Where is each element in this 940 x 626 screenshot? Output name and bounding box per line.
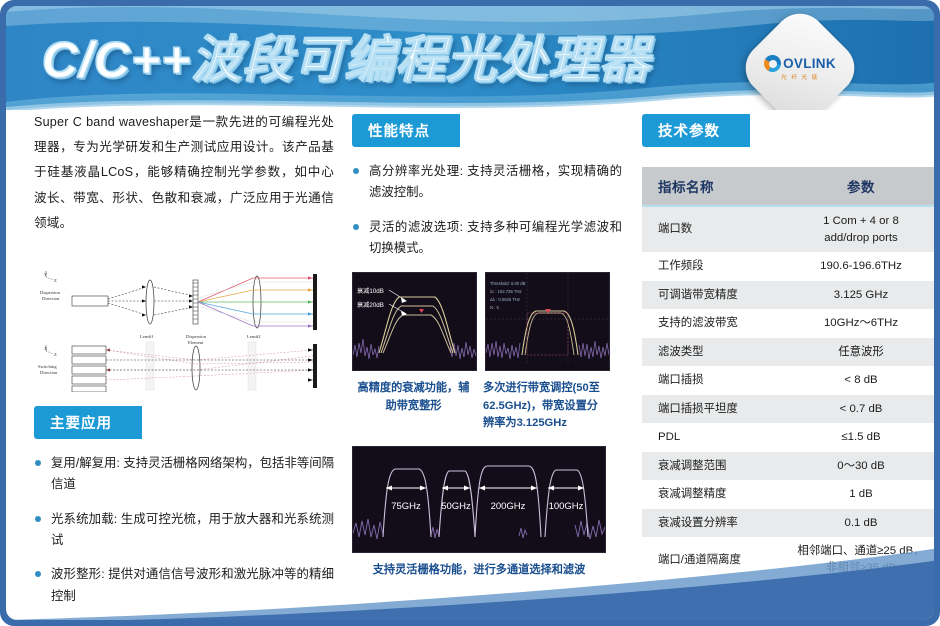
spec-name-cell: 衰减设置分辨率 [642,509,788,538]
svg-text:Dispersion: Dispersion [40,290,61,295]
spec-name-cell: 工作频段 [642,252,788,281]
table-header-row: 指标名称 参数 [642,167,934,206]
optical-path-diagram: Y Z Dispersion Direction Lens#1 [34,252,334,392]
logo-wordmark: OVLINK [783,56,836,71]
table-row: 衰减调整范围0～30 dB [642,452,934,481]
svg-text:Z: Z [54,352,57,357]
spec-value-cell: 0.1 dB [788,509,934,538]
list-item: 灵活的滤波选项: 支持多种可编程光学滤波和切换模式。 [352,217,622,260]
features-list: 高分辨率光处理: 支持灵活栅格，实现精确的滤波控制。 灵活的滤波选项: 支持多种… [352,161,622,259]
applications-section-tab: 主要应用 [34,406,142,439]
spec-value-cell: < 0.7 dB [788,395,934,424]
bandwidth-tuning-spectrum-screenshot: Threshold: 6.00 dB λc : 192.736 THz Δλ :… [485,272,610,371]
table-row: 衰减调整精度1 dB [642,480,934,509]
spec-name-cell: 衰减调整精度 [642,480,788,509]
shot2-overlay-lambda-c: λc : 192.736 THz [490,289,522,294]
table-row: 端口数1 Com + 4 or 8add/drop ports [642,206,934,252]
spec-name-cell: 可调谐带宽精度 [642,281,788,310]
svg-text:Element: Element [188,340,204,345]
shot2-overlay-n: N : 5 [490,305,500,310]
spec-name-cell: 支持的滤波带宽 [642,309,788,338]
svg-text:Direction: Direction [40,370,58,375]
shot2-caption: 多次进行带宽调控(50至62.5GHz)，带宽设置分辨率为3.125GHz [483,380,606,432]
middle-column: 性能特点 高分辨率光处理: 支持灵活栅格，实现精确的滤波控制。 灵活的滤波选项:… [352,110,622,580]
spec-name-cell: 端口数 [642,206,788,252]
spec-value-cell: 1 dB [788,480,934,509]
table-row: 支持的滤波带宽10GHz～6THz [642,309,934,338]
table-row: 衰减设置分辨率0.1 dB [642,509,934,538]
channel-label-0: 75GHz [391,501,421,512]
svg-text:Z: Z [54,278,57,283]
page-title: C/C++波段可编程光处理器 [42,20,651,92]
table-row: 端口插损平坦度< 0.7 dB [642,395,934,424]
svg-text:Dispersion: Dispersion [186,334,207,339]
svg-text:Switching: Switching [38,364,57,369]
svg-text:Lens#1: Lens#1 [140,334,154,339]
spec-value-cell: < 8 dB [788,366,934,395]
footer-wave-graphic [6,540,934,620]
shot1-label-20db: 衰减20dB [357,301,384,309]
spec-name-cell: PDL [642,423,788,452]
table-row: 端口插损< 8 dB [642,366,934,395]
technical-specifications-table: 指标名称 参数 端口数1 Com + 4 or 8add/drop ports工… [642,167,934,582]
shot2-overlay-threshold: Threshold: 6.00 dB [490,281,526,286]
shot1-caption: 高精度的衰减功能，辅助带宽整形 [352,380,475,432]
channel-label-2: 200GHz [491,501,526,512]
channel-label-1: 50GHz [441,501,471,512]
list-item: 高分辨率光处理: 支持灵活栅格，实现精确的滤波控制。 [352,161,622,204]
page-border: C/C++波段可编程光处理器 OVLINK 光 纤 光 链 Super C ba… [0,0,940,626]
spec-name-cell: 滤波类型 [642,338,788,367]
logo-subtext: 光 纤 光 链 [781,73,819,81]
column-header-value: 参数 [788,167,934,206]
attenuation-spectrum-screenshot: 衰减10dB 衰减20dB [352,272,477,371]
table-row: 可调谐带宽精度3.125 GHz [642,281,934,310]
spec-value-cell: 190.6-196.6THz [788,252,934,281]
table-row: 工作频段190.6-196.6THz [642,252,934,281]
right-column: 技术参数 指标名称 参数 端口数1 Com + 4 or 8add/drop p… [642,110,934,582]
column-header-name: 指标名称 [642,167,788,206]
svg-text:Direction: Direction [42,296,60,301]
specs-section-tab: 技术参数 [642,114,750,147]
table-body: 端口数1 Com + 4 or 8add/drop ports工作频段190.6… [642,206,934,582]
features-section-tab: 性能特点 [352,114,460,147]
spec-value-cell: 1 Com + 4 or 8add/drop ports [788,206,934,252]
spec-value-cell: 0～30 dB [788,452,934,481]
spec-value-cell: ≤1.5 dB [788,423,934,452]
brochure-page: C/C++波段可编程光处理器 OVLINK 光 纤 光 链 Super C ba… [0,0,940,626]
shot1-label-10db: 衰减10dB [357,287,384,295]
table-row: PDL≤1.5 dB [642,423,934,452]
channel-label-3: 100GHz [549,501,584,512]
header-banner: C/C++波段可编程光处理器 OVLINK 光 纤 光 链 [6,6,934,110]
table-row: 滤波类型任意波形 [642,338,934,367]
spec-name-cell: 端口插损平坦度 [642,395,788,424]
flexgrid-multichannel-spectrum-screenshot: 75GHz 50GHz 200GHz 100GHz [352,446,606,553]
spec-name-cell: 端口插损 [642,366,788,395]
spec-value-cell: 3.125 GHz [788,281,934,310]
shot2-overlay-delta-lambda: Δλ : 0.0625 THz [490,297,520,302]
company-logo: OVLINK 光 纤 光 链 [754,22,846,110]
spec-value-cell: 10GHz～6THz [788,309,934,338]
svg-text:Lens#2: Lens#2 [247,334,261,339]
ovlink-circular-logo-mark [764,55,781,72]
list-item: 复用/解复用: 支持灵活栅格网络架构，包括非等间隔信道 [34,453,334,496]
spec-name-cell: 衰减调整范围 [642,452,788,481]
spec-value-cell: 任意波形 [788,338,934,367]
page-canvas: C/C++波段可编程光处理器 OVLINK 光 纤 光 链 Super C ba… [6,6,934,620]
product-intro-paragraph: Super C band waveshaper是一款先进的可编程光处理器，专为光… [34,110,334,236]
